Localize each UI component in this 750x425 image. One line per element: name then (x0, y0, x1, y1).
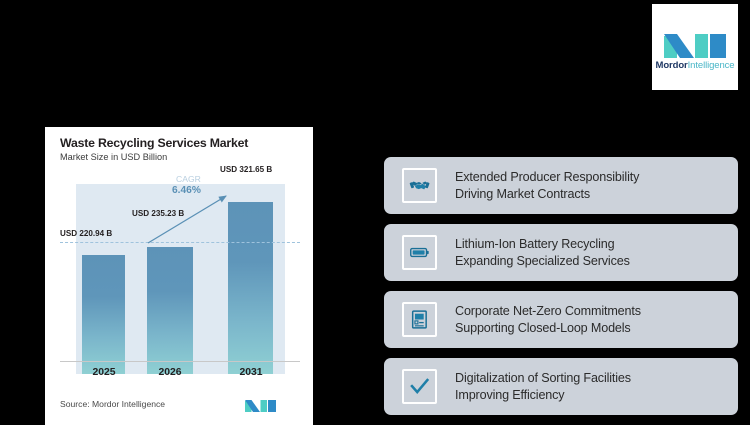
bar-2031 (228, 202, 273, 374)
driver-panel-3-line1: Corporate Net-Zero Commitments (455, 303, 641, 320)
battery-icon (402, 235, 437, 270)
driver-panel-4-text: Digitalization of Sorting Facilities Imp… (455, 370, 631, 403)
x-tick-2026: 2026 (144, 367, 196, 378)
driver-panel-1[interactable]: Extended Producer Responsibility Driving… (384, 157, 738, 214)
driver-panel-4[interactable]: Digitalization of Sorting Facilities Imp… (384, 358, 738, 415)
chart-card: Waste Recycling Services Market Market S… (45, 127, 313, 425)
bar-2025 (82, 255, 125, 374)
cagr-value: 6.46% (172, 185, 201, 196)
driver-panel-4-line1: Digitalization of Sorting Facilities (455, 370, 631, 387)
driver-panel-3-text: Corporate Net-Zero Commitments Supportin… (455, 303, 641, 336)
chart-plot-area: USD 220.94 B USD 235.23 B USD 321.65 B C… (60, 171, 300, 374)
brand-logo-card: MordorIntelligence (652, 4, 738, 90)
bar-label-2031: USD 321.65 B (220, 165, 272, 174)
driver-panel-2-text: Lithium-Ion Battery Recycling Expanding … (455, 236, 630, 269)
chart-source: Source: Mordor Intelligence (60, 399, 165, 409)
driver-panel-3[interactable]: Corporate Net-Zero Commitments Supportin… (384, 291, 738, 348)
driver-panel-1-line2: Driving Market Contracts (455, 186, 639, 203)
driver-panel-1-line1: Extended Producer Responsibility (455, 169, 639, 186)
chart-x-axis (60, 361, 300, 362)
bar-label-2025: USD 220.94 B (60, 229, 112, 238)
chart-subtitle: Market Size in USD Billion (60, 152, 167, 162)
bar-label-2026: USD 235.23 B (132, 209, 184, 218)
checkmark-icon (402, 369, 437, 404)
reference-dashed-line (60, 242, 300, 243)
chart-title: Waste Recycling Services Market (60, 136, 248, 150)
document-icon (402, 302, 437, 337)
driver-panel-1-text: Extended Producer Responsibility Driving… (455, 169, 639, 202)
driver-panel-2[interactable]: Lithium-Ion Battery Recycling Expanding … (384, 224, 738, 281)
mordor-m-logo-small-icon (245, 395, 276, 412)
x-tick-2025: 2025 (78, 367, 130, 378)
driver-panel-4-line2: Improving Efficiency (455, 387, 631, 404)
cagr-label: CAGR (176, 174, 201, 184)
driver-panel-2-line2: Expanding Specialized Services (455, 253, 630, 270)
handshake-icon (402, 168, 437, 203)
bar-2026 (147, 247, 193, 374)
brand-name-light: Intelligence (688, 60, 735, 71)
mordor-m-logo-icon (664, 24, 726, 58)
brand-logo-text: MordorIntelligence (656, 60, 735, 71)
driver-panel-2-line1: Lithium-Ion Battery Recycling (455, 236, 630, 253)
brand-name-bold: Mordor (656, 60, 688, 71)
driver-panel-3-line2: Supporting Closed-Loop Models (455, 320, 641, 337)
x-tick-2031: 2031 (225, 367, 277, 378)
